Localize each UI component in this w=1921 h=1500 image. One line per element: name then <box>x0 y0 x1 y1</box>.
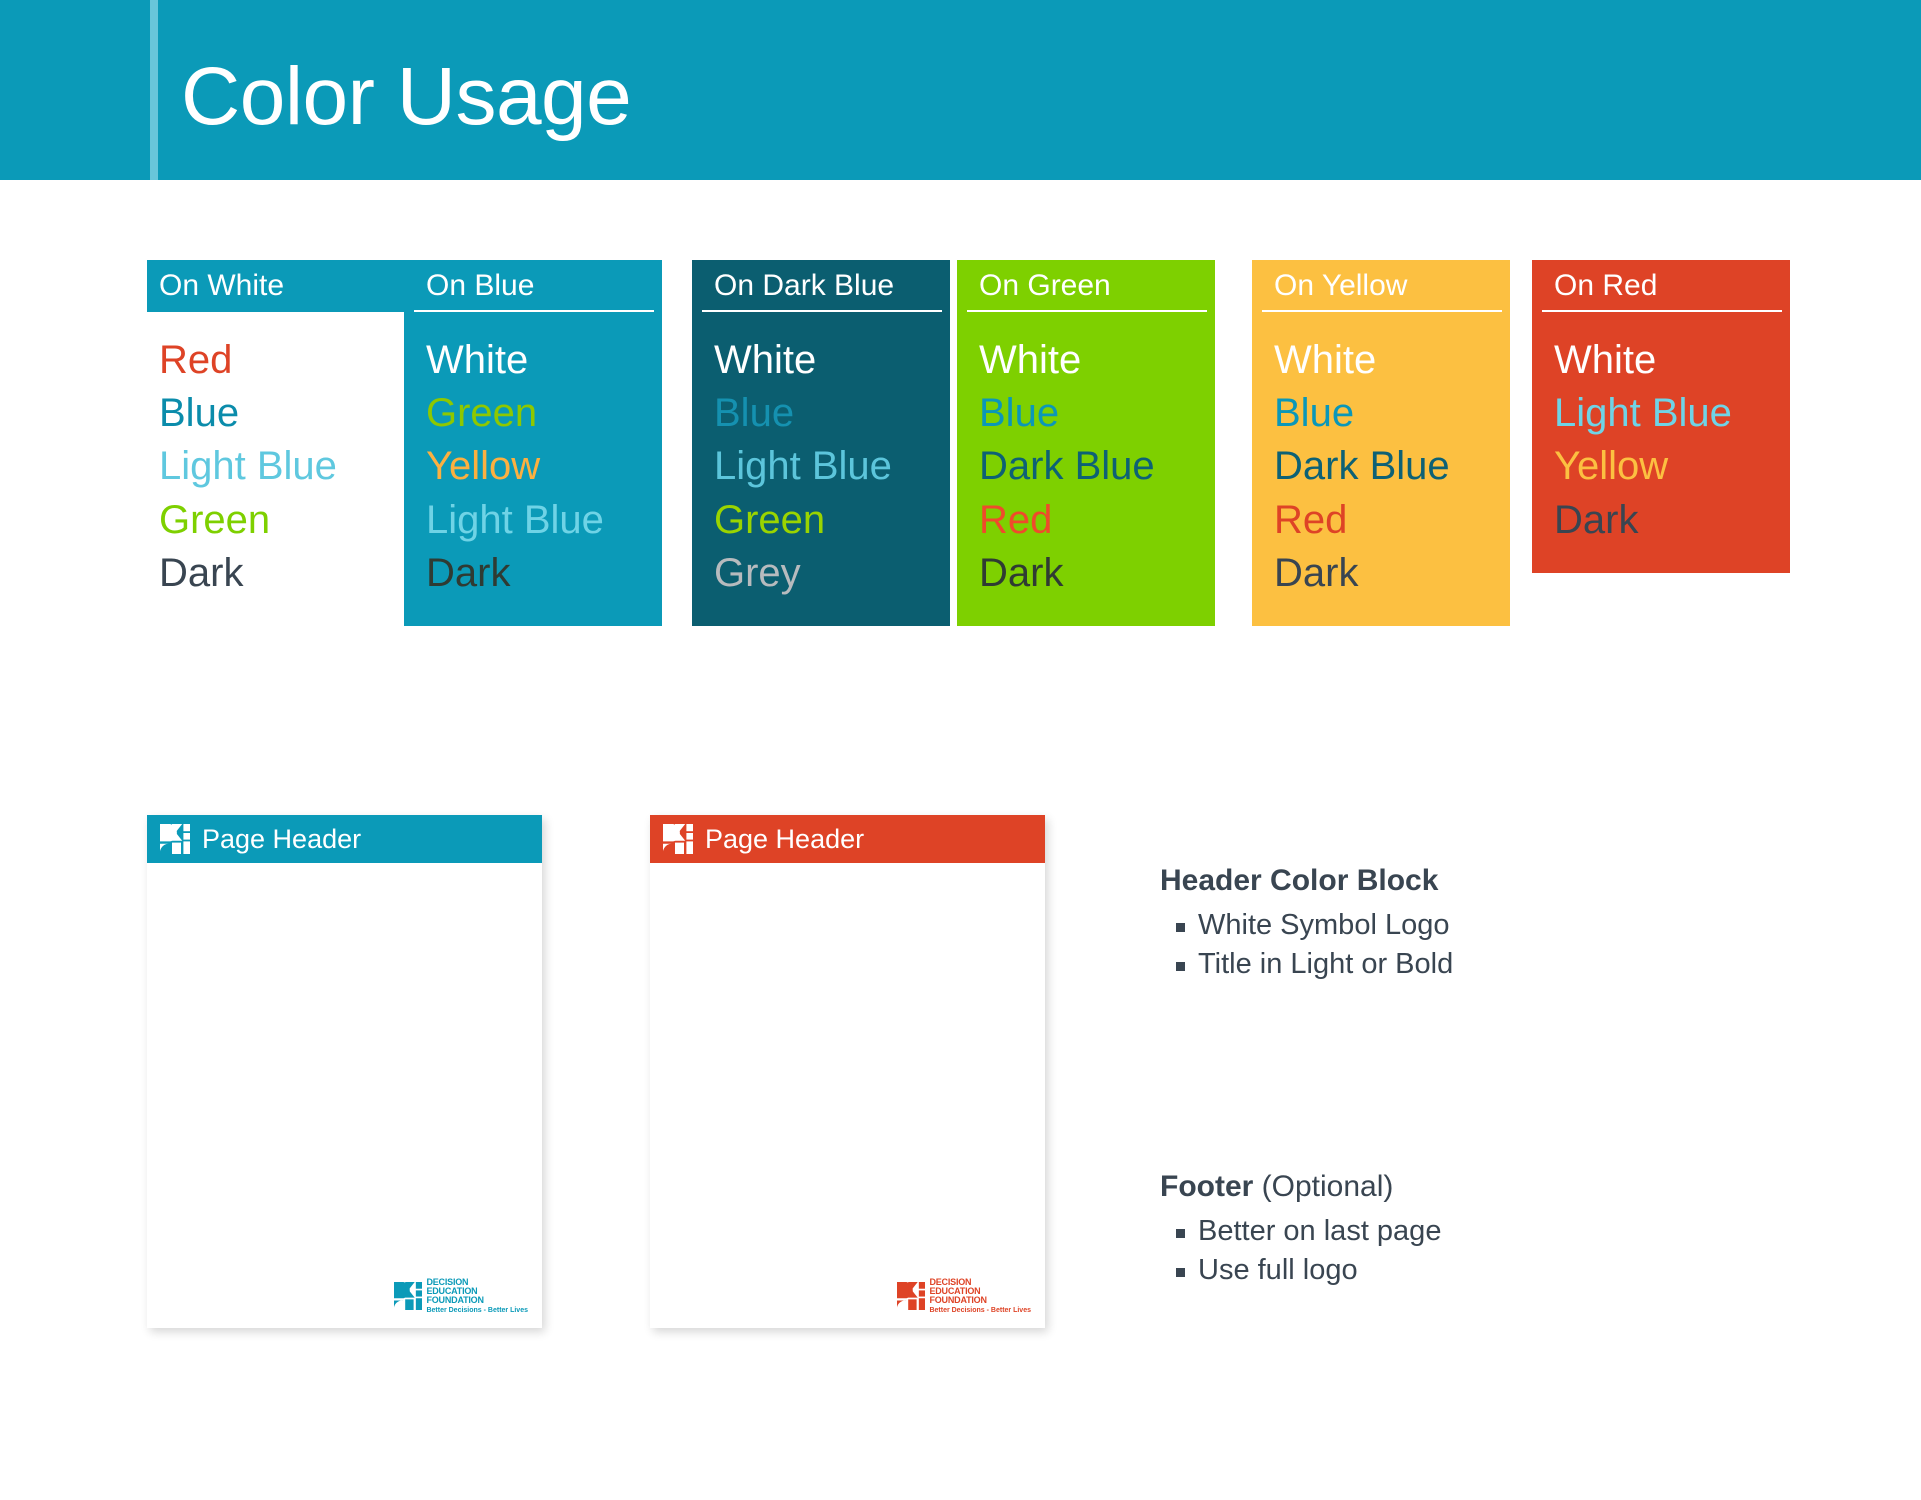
annotation-heading-soft: (Optional) <box>1253 1170 1393 1203</box>
swatch-underline-rule <box>967 310 1207 312</box>
swatch-color-list: WhiteBlueDark BlueRedDark <box>1252 312 1510 626</box>
swatch-label: On Yellow <box>1274 268 1510 304</box>
swatch-color-item: Grey <box>714 547 950 600</box>
swatch-color-item: Green <box>714 494 950 547</box>
swatch-label-block: On Blue <box>404 260 662 312</box>
swatch-label: On Green <box>979 268 1215 304</box>
def-symbol-logo-icon <box>394 1282 422 1310</box>
page-title: Color Usage <box>181 56 631 138</box>
swatch-label-block: On Yellow <box>1252 260 1510 312</box>
swatch-color-item: Red <box>979 494 1215 547</box>
mockup-header-title: Page Header <box>705 826 864 853</box>
swatch-color-list: WhiteBlueLight BlueGreenGrey <box>692 312 950 626</box>
swatch-label: On Dark Blue <box>714 268 950 304</box>
swatch-color-item: Dark <box>979 547 1215 600</box>
slide-header-band: Color Usage <box>0 0 1921 180</box>
swatch-column-on-yellow: On YellowWhiteBlueDark BlueRedDark <box>1252 260 1510 626</box>
swatch-color-item: Green <box>426 387 662 440</box>
footer-logo-line: FOUNDATION <box>929 1296 1031 1305</box>
swatch-color-item: Green <box>159 494 405 547</box>
swatch-column-on-red: On RedWhiteLight BlueYellowDark <box>1532 260 1790 573</box>
swatch-color-item: Yellow <box>1554 440 1790 493</box>
def-symbol-logo-icon <box>663 824 693 854</box>
swatch-color-item: Blue <box>714 387 950 440</box>
swatch-color-item: White <box>979 334 1215 387</box>
def-symbol-logo-icon <box>160 824 190 854</box>
annotation-bullet-item: Use full logo <box>1160 1251 1441 1290</box>
page-mockup: Page HeaderDECISIONEDUCATIONFOUNDATIONBe… <box>650 815 1045 1328</box>
swatch-color-item: Dark <box>426 547 662 600</box>
swatch-color-item: Dark <box>1554 494 1790 547</box>
mockup-header-color-block: Page Header <box>650 815 1045 863</box>
swatch-underline-rule <box>702 310 942 312</box>
footer-logo-wordmark: DECISIONEDUCATIONFOUNDATIONBetter Decisi… <box>929 1278 1031 1314</box>
swatch-color-item: Light Blue <box>426 494 662 547</box>
annotation-heading: Footer (Optional) <box>1160 1168 1441 1206</box>
annotation-bullet-item: Better on last page <box>1160 1212 1441 1251</box>
swatch-color-item: Blue <box>159 387 405 440</box>
mockup-footer-full-logo: DECISIONEDUCATIONFOUNDATIONBetter Decisi… <box>394 1278 528 1314</box>
swatch-color-list: RedBlueLight BlueGreenDark <box>147 312 405 626</box>
swatch-underline-rule <box>414 310 654 312</box>
swatch-column-on-dark-blue: On Dark BlueWhiteBlueLight BlueGreenGrey <box>692 260 950 626</box>
swatch-label: On Red <box>1554 268 1790 304</box>
swatch-color-item: Light Blue <box>714 440 950 493</box>
swatch-color-item: Dark Blue <box>979 440 1215 493</box>
swatch-color-item: White <box>1274 334 1510 387</box>
swatch-color-item: White <box>714 334 950 387</box>
swatch-color-item: Yellow <box>426 440 662 493</box>
swatch-color-item: White <box>426 334 662 387</box>
swatch-color-item: Dark Blue <box>1274 440 1510 493</box>
annotation-block: Header Color BlockWhite Symbol LogoTitle… <box>1160 862 1453 984</box>
annotation-bullet-list: Better on last pageUse full logo <box>1160 1212 1441 1290</box>
swatch-column-on-blue: On BlueWhiteGreenYellowLight BlueDark <box>404 260 662 626</box>
mockup-header-color-block: Page Header <box>147 815 542 863</box>
header-accent-stripe <box>150 0 158 180</box>
footer-logo-tagline: Better Decisions - Better Lives <box>929 1307 1031 1314</box>
swatch-color-list: WhiteLight BlueYellowDark <box>1532 312 1790 573</box>
swatch-color-item: Blue <box>979 387 1215 440</box>
swatch-color-list: WhiteBlueDark BlueRedDark <box>957 312 1215 626</box>
annotation-bullet-list: White Symbol LogoTitle in Light or Bold <box>1160 906 1453 984</box>
annotation-heading-bold: Header Color Block <box>1160 864 1438 897</box>
swatch-label-block: On Green <box>957 260 1215 312</box>
annotation-bullet-item: Title in Light or Bold <box>1160 945 1453 984</box>
swatch-color-item: White <box>1554 334 1790 387</box>
swatch-color-item: Blue <box>1274 387 1510 440</box>
mockup-page-body: DECISIONEDUCATIONFOUNDATIONBetter Decisi… <box>650 863 1045 1328</box>
swatch-label: On White <box>159 268 405 304</box>
footer-logo-line: FOUNDATION <box>426 1296 528 1305</box>
swatch-column-on-white: On WhiteRedBlueLight BlueGreenDark <box>147 260 405 626</box>
swatch-label: On Blue <box>426 268 662 304</box>
swatch-color-item: Red <box>1274 494 1510 547</box>
page-mockup: Page HeaderDECISIONEDUCATIONFOUNDATIONBe… <box>147 815 542 1328</box>
swatch-color-item: Dark <box>159 547 405 600</box>
swatch-label-block: On White <box>147 260 405 312</box>
annotation-bullet-item: White Symbol Logo <box>1160 906 1453 945</box>
swatch-color-item: Light Blue <box>1554 387 1790 440</box>
def-symbol-logo-icon <box>897 1282 925 1310</box>
footer-logo-wordmark: DECISIONEDUCATIONFOUNDATIONBetter Decisi… <box>426 1278 528 1314</box>
swatch-color-item: Light Blue <box>159 440 405 493</box>
swatch-label-block: On Dark Blue <box>692 260 950 312</box>
footer-logo-tagline: Better Decisions - Better Lives <box>426 1307 528 1314</box>
mockup-header-title: Page Header <box>202 826 361 853</box>
annotation-block: Footer (Optional)Better on last pageUse … <box>1160 1168 1441 1290</box>
swatch-color-item: Dark <box>1274 547 1510 600</box>
swatch-color-list: WhiteGreenYellowLight BlueDark <box>404 312 662 626</box>
color-usage-swatch-row: On WhiteRedBlueLight BlueGreenDarkOn Blu… <box>147 260 1827 710</box>
mockup-footer-full-logo: DECISIONEDUCATIONFOUNDATIONBetter Decisi… <box>897 1278 1031 1314</box>
swatch-underline-rule <box>1542 310 1782 312</box>
swatch-column-on-green: On GreenWhiteBlueDark BlueRedDark <box>957 260 1215 626</box>
annotation-heading: Header Color Block <box>1160 862 1453 900</box>
swatch-color-item: Red <box>159 334 405 387</box>
swatch-label-block: On Red <box>1532 260 1790 312</box>
mockup-page-body: DECISIONEDUCATIONFOUNDATIONBetter Decisi… <box>147 863 542 1328</box>
annotation-heading-bold: Footer <box>1160 1170 1253 1203</box>
swatch-underline-rule <box>1262 310 1502 312</box>
